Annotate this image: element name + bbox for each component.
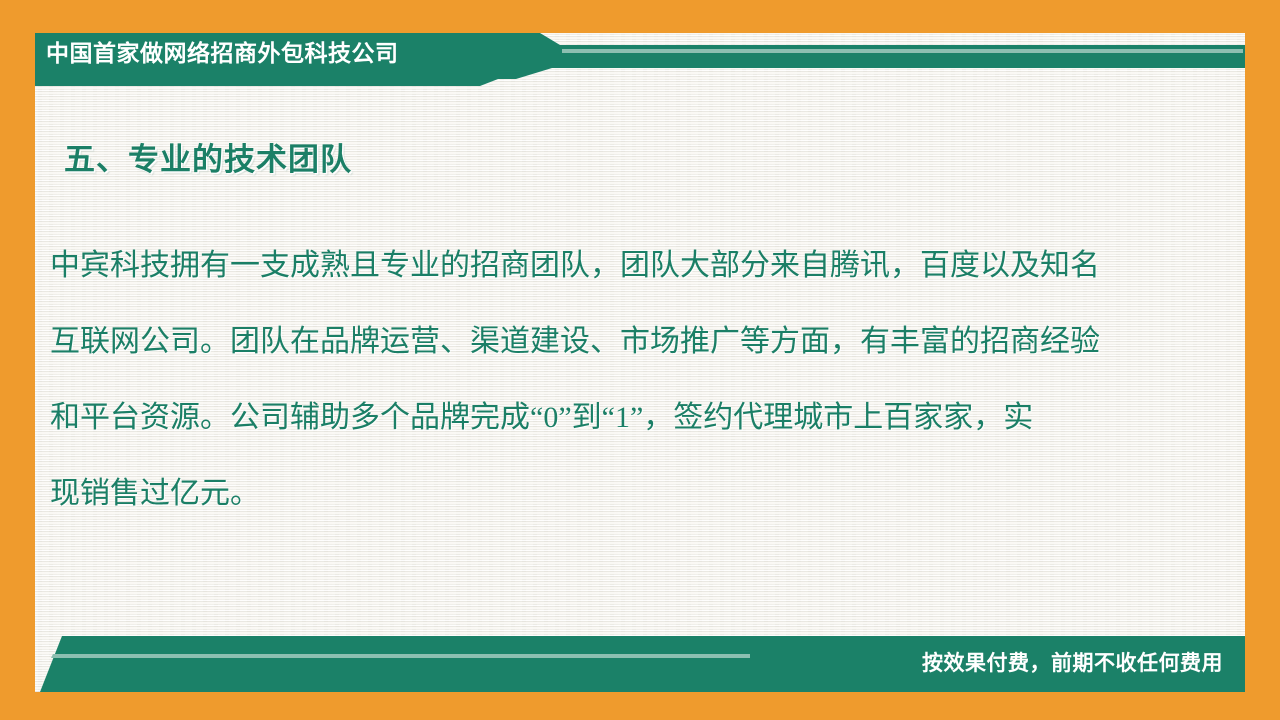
body-line: 和平台资源。公司辅助多个品牌完成“0”到“1”，签约代理城市上百家家，实 xyxy=(50,380,1190,456)
frame-border-right xyxy=(1245,0,1280,720)
body-line: 现销售过亿元。 xyxy=(50,456,1190,532)
body-line: 互联网公司。团队在品牌运营、渠道建设、市场推广等方面，有丰富的招商经验 xyxy=(50,304,1190,380)
body-paragraph: 中宾科技拥有一支成熟且专业的招商团队，团队大部分来自腾讯，百度以及知名 互联网公… xyxy=(50,228,1190,532)
body-line: 中宾科技拥有一支成熟且专业的招商团队，团队大部分来自腾讯，百度以及知名 xyxy=(50,228,1190,304)
frame-border-top xyxy=(0,0,1280,33)
presentation-slide: 中国首家做网络招商外包科技公司 五、专业的技术团队 中宾科技拥有一支成熟且专业的… xyxy=(0,0,1280,720)
frame-border-left xyxy=(0,0,35,720)
frame-border-bottom xyxy=(0,692,1280,720)
section-heading: 五、专业的技术团队 xyxy=(64,134,352,179)
